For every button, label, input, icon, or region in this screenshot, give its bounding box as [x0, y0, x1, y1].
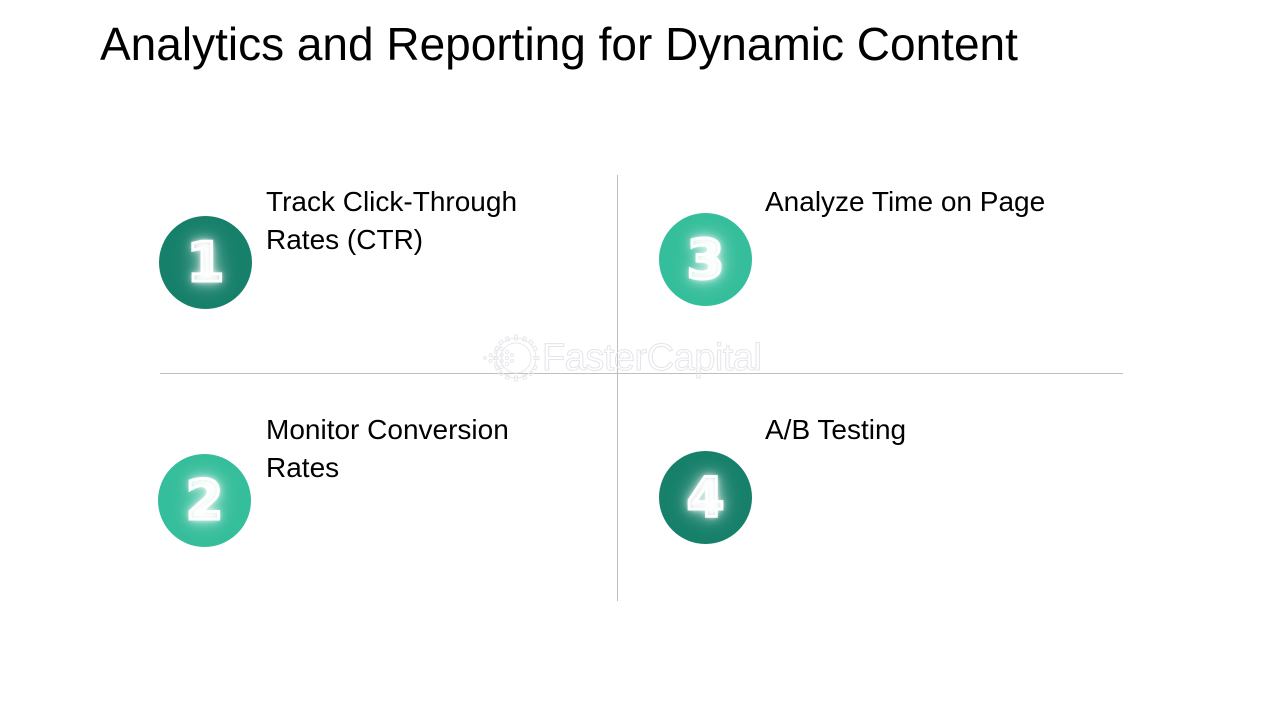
quadrant-label-4: A/B Testing [765, 411, 1105, 449]
number-badge-4: 4 [659, 451, 752, 544]
vertical-divider [617, 175, 618, 601]
number-badge-3: 3 [659, 213, 752, 306]
quadrant-label-3: Analyze Time on Page [765, 183, 1105, 221]
slide-canvas: Analytics and Reporting for Dynamic Cont… [0, 0, 1280, 720]
badge-number-4: 4 [659, 451, 752, 544]
number-badge-2: 2 [158, 454, 251, 547]
number-badge-1: 1 [159, 216, 252, 309]
gear-dots-logo-icon [478, 332, 540, 384]
quadrant-label-1: Track Click-Through Rates (CTR) [266, 183, 576, 259]
page-title: Analytics and Reporting for Dynamic Cont… [100, 12, 1180, 76]
horizontal-divider [160, 373, 1123, 374]
badge-number-1: 1 [159, 216, 252, 309]
badge-number-3: 3 [659, 213, 752, 306]
watermark: FasterCapital [478, 330, 808, 386]
badge-number-2: 2 [158, 454, 251, 547]
quadrant-label-2: Monitor Conversion Rates [266, 411, 586, 487]
